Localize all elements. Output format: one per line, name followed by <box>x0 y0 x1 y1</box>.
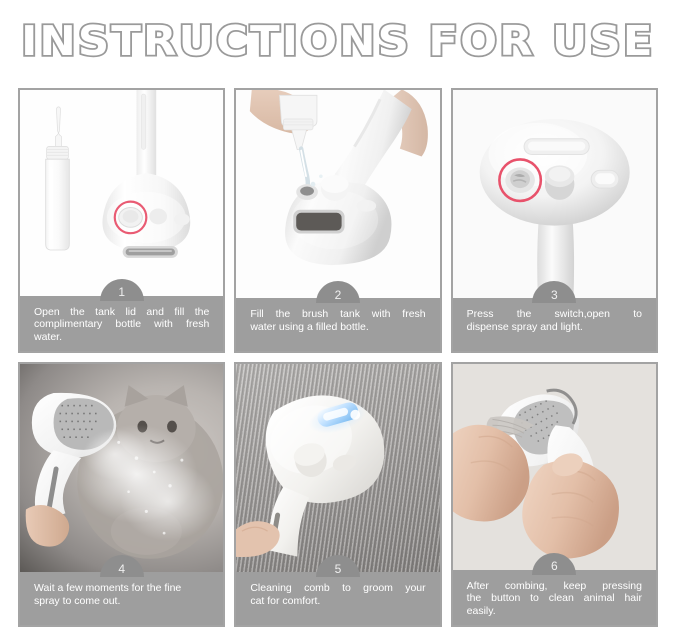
caption-line: Wait a few moments for the fine <box>34 582 209 595</box>
step-image-2 <box>236 90 439 298</box>
step-image-4 <box>20 364 223 572</box>
comb-on-fur-illustration <box>236 364 439 572</box>
step-caption-6: 6 After combing, keep pressing the butto… <box>453 570 656 626</box>
bottle-and-brush-illustration <box>20 90 223 296</box>
step-panel-4: 4 Wait a few moments for the fine spray … <box>18 362 225 627</box>
step-caption-3: 3 Press the switch,open to dispense spra… <box>453 298 656 351</box>
caption-line: cat for comfort. <box>250 595 425 608</box>
step-caption-4: 4 Wait a few moments for the fine spray … <box>20 572 223 625</box>
step-caption-1: 1 Open the tank lid and fill the complim… <box>20 296 223 352</box>
caption-line: After combing, keep pressing <box>467 580 642 593</box>
step-image-6 <box>453 364 656 570</box>
spray-on-cat-illustration <box>20 364 223 572</box>
switch-closeup-illustration <box>453 90 656 298</box>
pouring-water-illustration <box>236 90 439 298</box>
page-title-wrap: INSTRUCTIONS FOR USE <box>0 0 675 82</box>
step-image-5 <box>236 364 439 572</box>
caption-line: dispense spray and light. <box>467 321 642 334</box>
step-panel-6: 6 After combing, keep pressing the butto… <box>451 362 658 627</box>
step-panel-5: 5 Cleaning comb to groom your cat for co… <box>234 362 441 627</box>
step-panel-3: 3 Press the switch,open to dispense spra… <box>451 88 658 353</box>
caption-line: Cleaning comb to groom your <box>250 582 425 595</box>
caption-line: spray to come out. <box>34 595 209 608</box>
caption-line: easily. <box>467 605 642 618</box>
page-title: INSTRUCTIONS FOR USE <box>21 17 655 65</box>
caption-line: Press the switch,open to <box>467 308 642 321</box>
caption-line: complimentary bottle with fresh <box>34 318 209 331</box>
caption-line: Fill the brush tank with fresh <box>250 308 425 321</box>
clean-hair-illustration <box>453 364 656 570</box>
steps-grid: 1 Open the tank lid and fill the complim… <box>18 88 658 627</box>
step-caption-5: 5 Cleaning comb to groom your cat for co… <box>236 572 439 625</box>
caption-line: water. <box>34 331 209 344</box>
step-image-1 <box>20 90 223 296</box>
step-panel-2: 2 Fill the brush tank with fresh water u… <box>234 88 441 353</box>
instructions-page: INSTRUCTIONS FOR USE <box>0 0 675 639</box>
step-image-3 <box>453 90 656 298</box>
caption-line: the button to clean animal hair <box>467 592 642 605</box>
caption-line: water using a filled bottle. <box>250 321 425 334</box>
caption-line: Open the tank lid and fill the <box>34 306 209 319</box>
step-panel-1: 1 Open the tank lid and fill the complim… <box>18 88 225 353</box>
step-caption-2: 2 Fill the brush tank with fresh water u… <box>236 298 439 351</box>
